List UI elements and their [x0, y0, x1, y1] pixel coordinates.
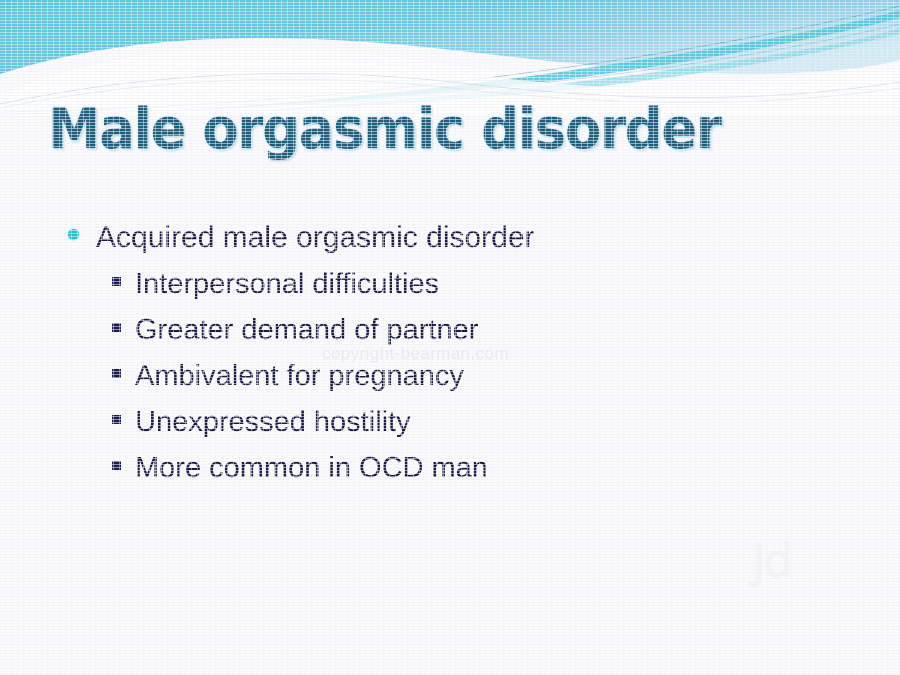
square-bullet-icon: [112, 461, 121, 470]
list-item: Greater demand of partner: [0, 307, 900, 353]
list-item: Ambivalent for pregnancy: [0, 353, 900, 399]
square-bullet-icon: [112, 369, 121, 378]
list-item: Interpersonal difficulties: [0, 261, 900, 307]
list-item: Unexpressed hostility: [0, 399, 900, 445]
square-bullet-icon: [112, 323, 121, 332]
presentation-slide: Male orgasmic disorder Acquired male org…: [0, 0, 900, 675]
slide-title: Male orgasmic disorder: [48, 101, 721, 160]
list-item: More common in OCD man: [0, 445, 900, 491]
square-bullet-icon: [112, 277, 121, 286]
list-item-label: Unexpressed hostility: [135, 399, 411, 445]
watermark-logo: Jd: [752, 534, 791, 588]
list-item-label: Greater demand of partner: [135, 307, 478, 353]
list-item-label: Ambivalent for pregnancy: [135, 353, 464, 399]
list-item-label: More common in OCD man: [135, 445, 488, 491]
square-bullet-icon: [112, 415, 121, 424]
list-item-label: Acquired male orgasmic disorder: [96, 214, 535, 261]
list-item-label: Interpersonal difficulties: [135, 261, 439, 307]
slide-body-list: Acquired male orgasmic disorder Interper…: [0, 214, 900, 491]
dot-bullet-icon: [68, 229, 79, 240]
list-item: Acquired male orgasmic disorder: [0, 214, 900, 261]
